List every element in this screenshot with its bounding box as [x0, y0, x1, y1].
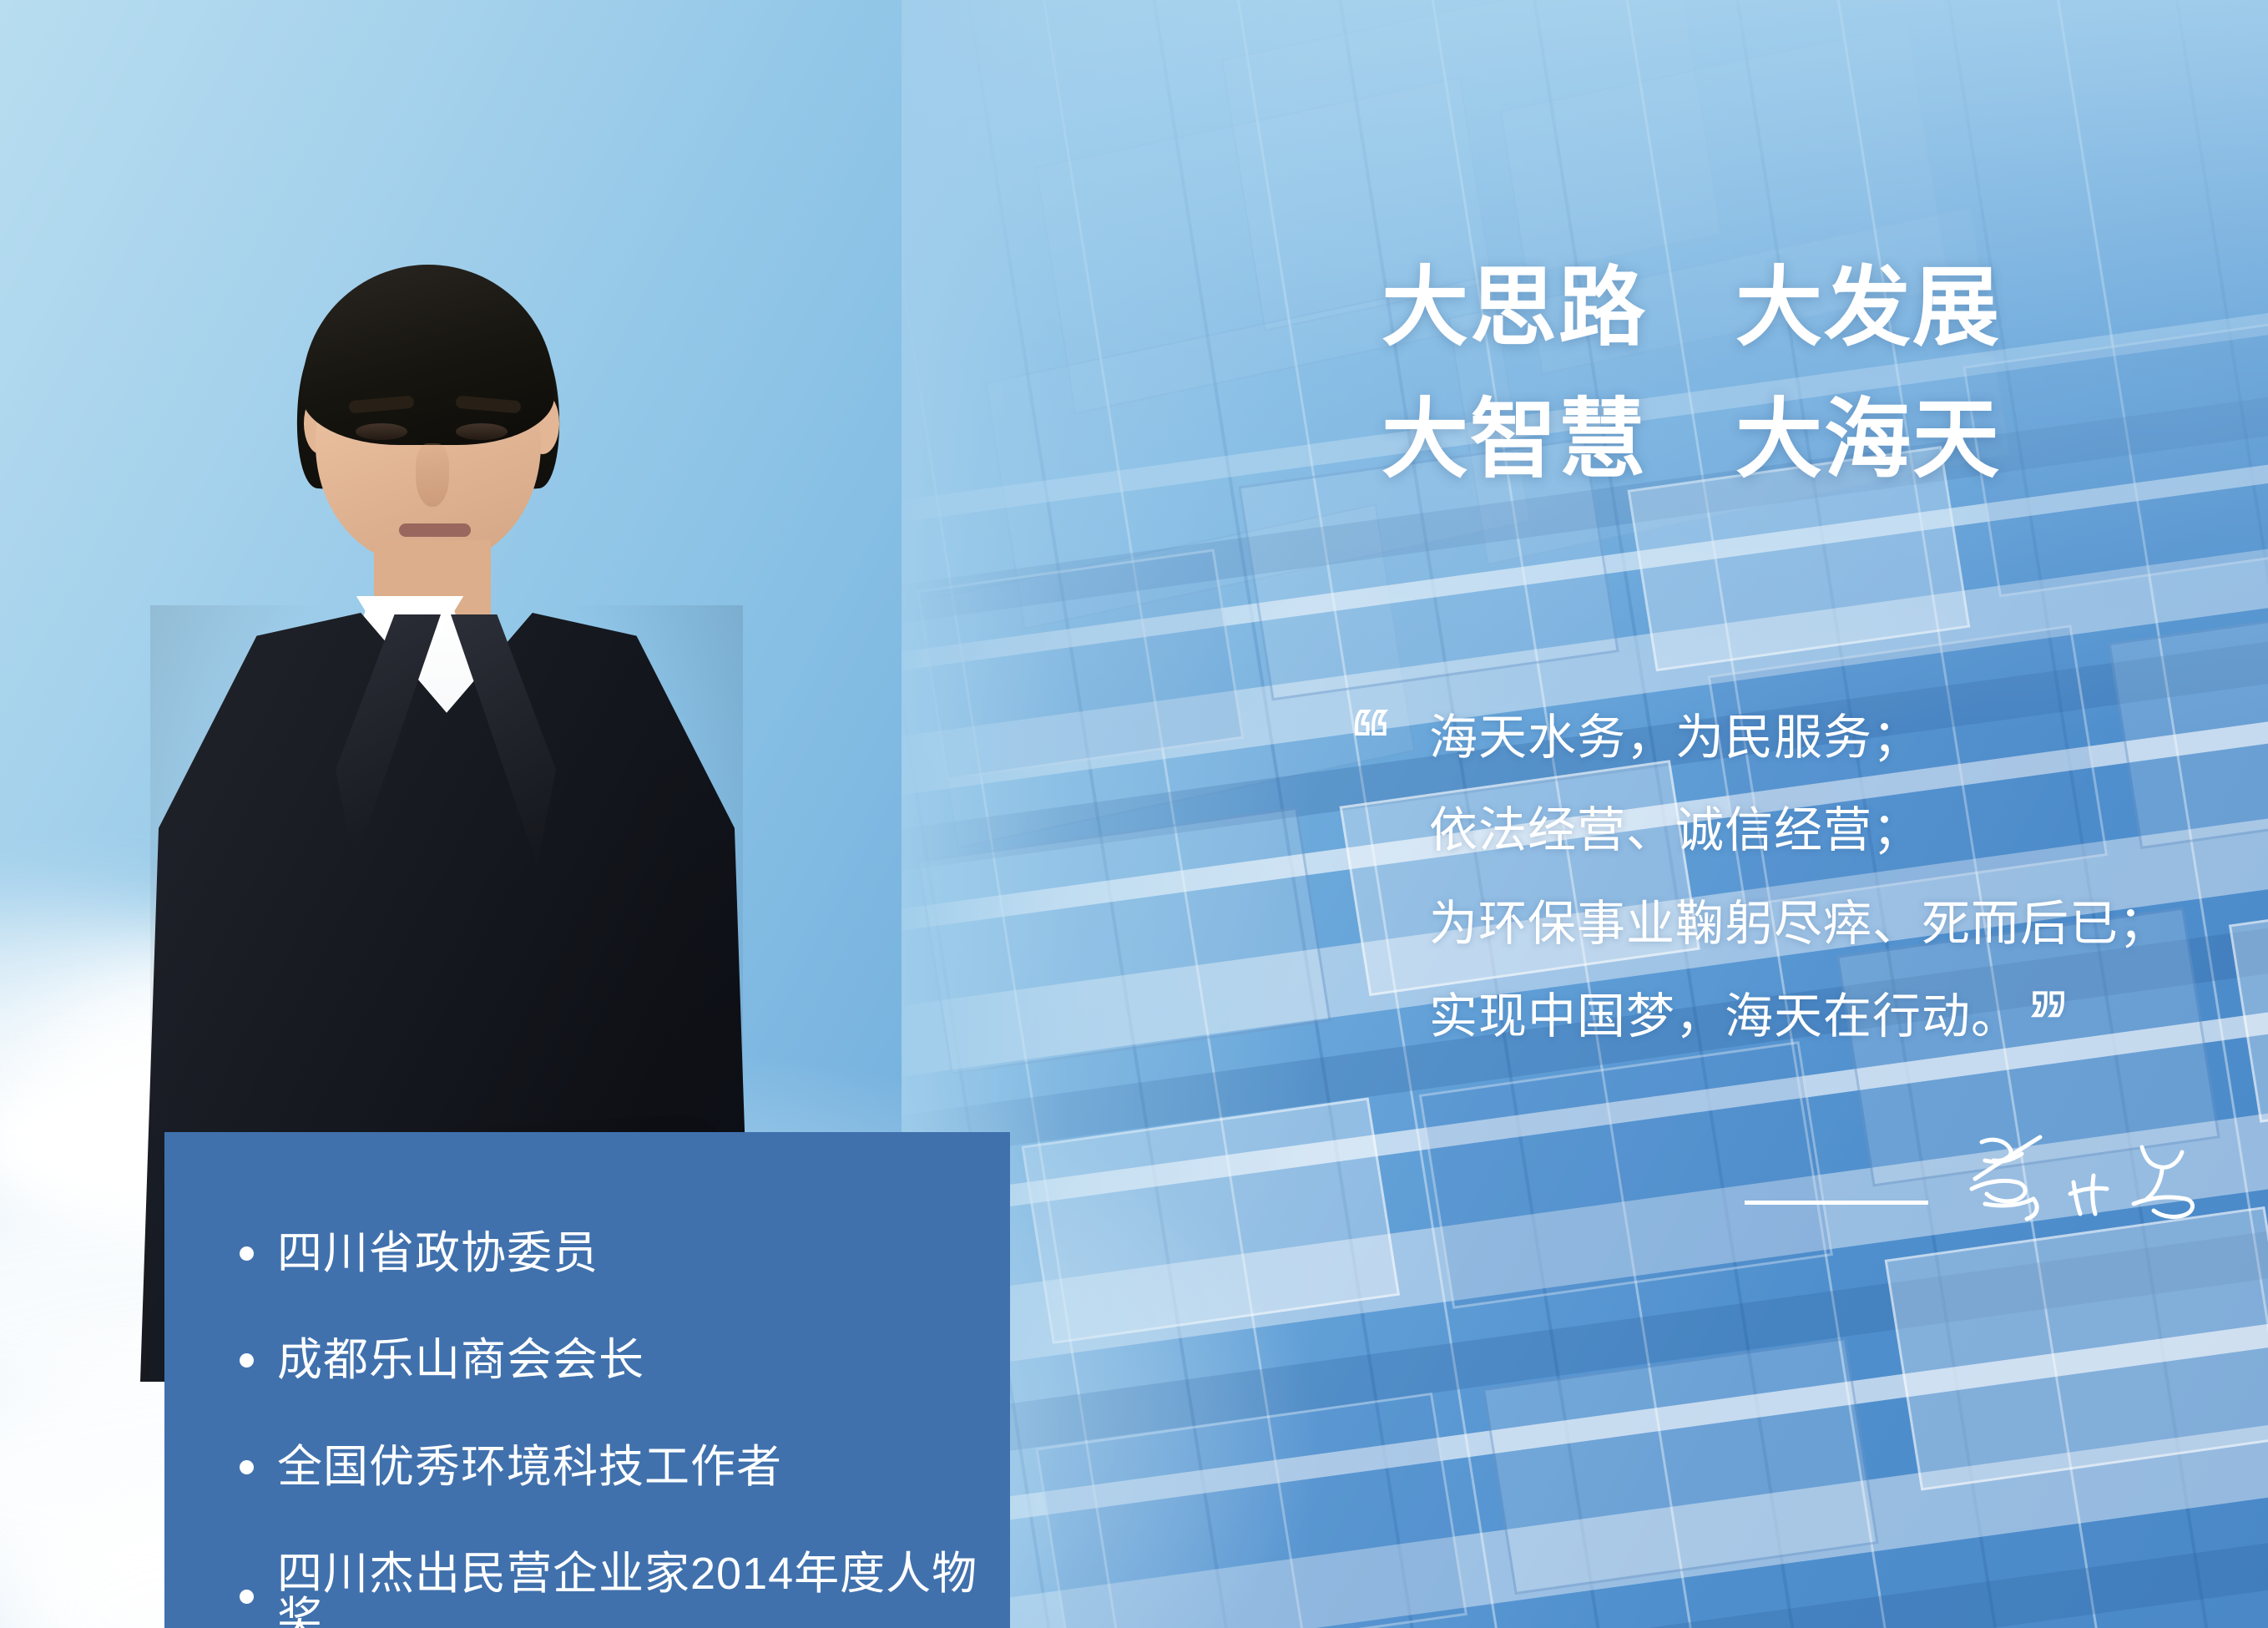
quote-text: 海天水务，为民服务； 依法经营、诚信经营； 为环保事业鞠躬尽瘁、死而后已； 实现… [1429, 691, 2185, 1063]
bullet-icon [240, 1460, 254, 1474]
headline-line-2: 大智慧 大海天 [1382, 374, 2133, 506]
credential-label: 成都乐山商会会长 [277, 1337, 644, 1383]
credential-label: 四川杰出民营企业家2014年度人物奖 [277, 1551, 1010, 1628]
quote-line-3: 为环保事业鞠躬尽瘁、死而后已； [1429, 877, 2185, 970]
credentials-list: 四川省政协委员 成都乐山商会会长 全国优秀环境科技工作者 四川杰出民营企业家20… [164, 1132, 1010, 1628]
list-item: 四川杰出民营企业家2014年度人物奖 [240, 1551, 1010, 1628]
bullet-icon [240, 1590, 254, 1604]
credential-label: 全国优秀环境科技工作者 [277, 1444, 782, 1489]
list-item: 全国优秀环境科技工作者 [240, 1444, 1010, 1489]
list-item: 成都乐山商会会长 [240, 1337, 1010, 1383]
quote-line-1: 海天水务，为民服务； [1429, 691, 2185, 784]
credential-label: 四川省政协委员 [277, 1231, 599, 1276]
handwritten-signature-icon [1957, 1127, 2207, 1252]
list-item: 四川省政协委员 [240, 1231, 1010, 1276]
signature-row [1745, 1127, 2207, 1252]
poster-canvas: 大思路 大发展 大智慧 大海天 “ 海天水务，为民服务； 依法经营、诚信经营； … [0, 0, 2268, 1628]
quote-line-2: 依法经营、诚信经营； [1429, 784, 2185, 877]
signature-dash [1745, 1201, 1928, 1205]
quote-line-4-wrap: 实现中国梦，海天在行动。” [1429, 970, 2185, 1063]
headline: 大思路 大发展 大智慧 大海天 [1382, 242, 2133, 506]
open-quote-icon: “ [1351, 700, 1391, 780]
quote-line-4: 实现中国梦，海天在行动。 [1429, 989, 2020, 1044]
bullet-icon [240, 1353, 254, 1368]
bullet-icon [240, 1246, 254, 1261]
credentials-panel: 四川省政协委员 成都乐山商会会长 全国优秀环境科技工作者 四川杰出民营企业家20… [164, 1132, 1010, 1628]
quote-block: “ 海天水务，为民服务； 依法经营、诚信经营； 为环保事业鞠躬尽瘁、死而后已； … [1351, 691, 2185, 1063]
headline-line-1: 大思路 大发展 [1382, 242, 2133, 374]
